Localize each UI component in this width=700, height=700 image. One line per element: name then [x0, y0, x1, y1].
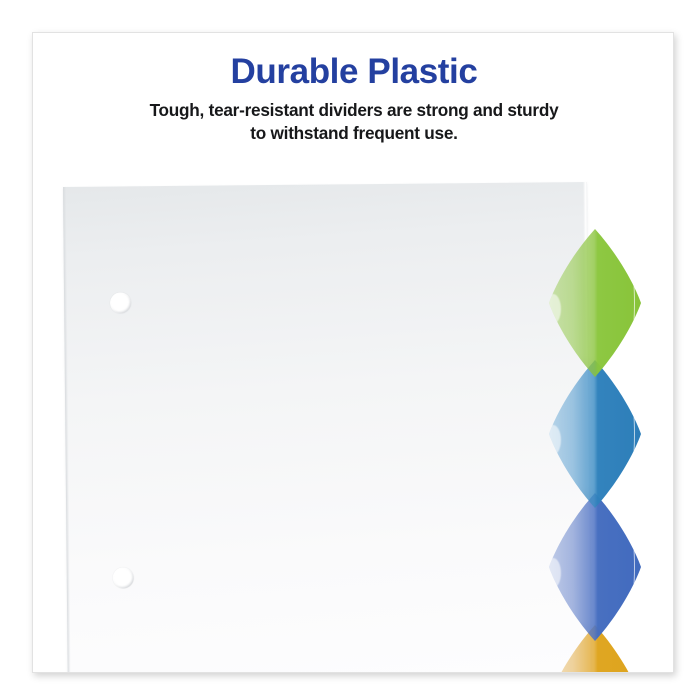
subtitle: Tough, tear-resistant dividers are stron…	[33, 99, 674, 145]
product-image-card: Durable Plastic Tough, tear-resistant di…	[32, 32, 674, 673]
tab-green-eyelet-bottom	[609, 361, 620, 371]
tab-green-eyelet-top	[609, 234, 620, 244]
punch-hole-bottom	[113, 567, 134, 588]
tab-royal-highlight	[611, 500, 635, 634]
punch-hole-top	[110, 292, 131, 313]
page-title: Durable Plastic	[33, 51, 674, 92]
screenshot-root: Durable Plastic Tough, tear-resistant di…	[0, 0, 700, 700]
sheet-right-edge	[583, 182, 592, 672]
tab-amber-eyelet-top	[609, 630, 620, 640]
tab-blue-eyelet-bottom	[609, 492, 620, 502]
tab-amber-highlight	[611, 632, 635, 673]
subtitle-line-2: to withstand frequent use.	[33, 122, 674, 145]
tab-blue-eyelet-top	[609, 365, 620, 375]
marketing-copy-block: Durable Plastic Tough, tear-resistant di…	[33, 33, 674, 145]
tab-blue-highlight	[611, 367, 635, 501]
product-photo	[33, 155, 674, 673]
subtitle-line-1: Tough, tear-resistant dividers are stron…	[150, 100, 559, 120]
tab-royal-eyelet-top	[609, 498, 620, 508]
tab-green-highlight	[611, 236, 635, 370]
tab-royal-eyelet-bottom	[609, 625, 620, 635]
sheet-left-edge	[63, 187, 71, 673]
divider-sheet	[63, 182, 592, 673]
